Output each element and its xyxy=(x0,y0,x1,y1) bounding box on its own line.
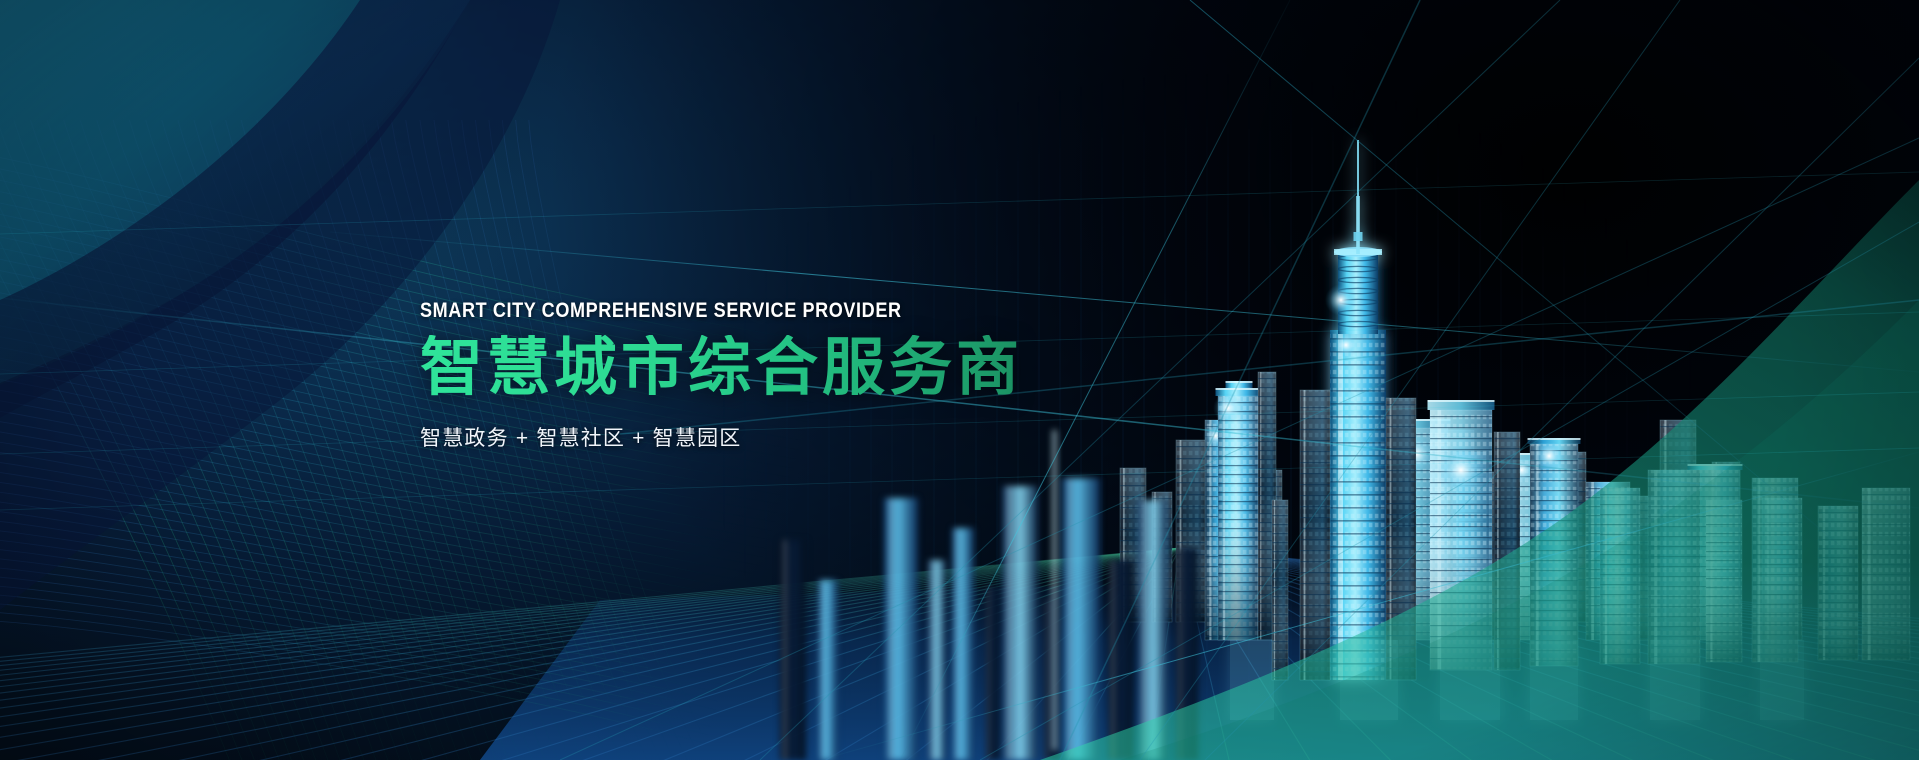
banner-eyebrow: SMART CITY COMPREHENSIVE SERVICE PROVIDE… xyxy=(420,300,1074,321)
banner-subtitle: 智慧政务 + 智慧社区 + 智慧园区 xyxy=(420,422,1180,452)
page-title: 智慧城市综合服务商 xyxy=(420,335,1180,402)
banner-text-block: SMART CITY COMPREHENSIVE SERVICE PROVIDE… xyxy=(420,300,1180,452)
banner-stage: SMART CITY COMPREHENSIVE SERVICE PROVIDE… xyxy=(0,0,1919,760)
